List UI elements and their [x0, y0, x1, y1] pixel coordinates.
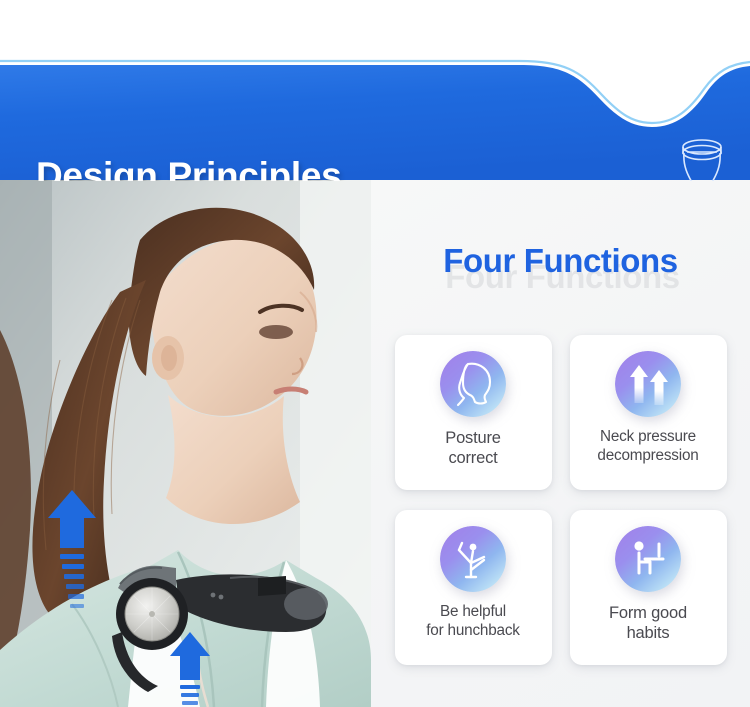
- neck-massager-device-icon: [673, 135, 731, 181]
- feature-card-label: Posture correct: [440, 428, 505, 468]
- feature-card-neck-pressure-decompression[interactable]: Neck pressure decompression: [570, 335, 727, 490]
- feature-card-be-helpful-for-hunchback[interactable]: Be helpful for hunchback: [395, 510, 552, 665]
- product-lifestyle-photo: Again: [0, 180, 371, 707]
- product-feature-page: Design Principles: [0, 0, 750, 707]
- features-card-grid: Posture correct: [371, 335, 750, 665]
- feature-card-label: Neck pressure decompression: [592, 428, 703, 465]
- feature-card-label: Be helpful for hunchback: [421, 603, 525, 640]
- double-up-arrow-icon: [615, 351, 681, 417]
- feature-card-label: Form good habits: [604, 603, 692, 643]
- page-title: Design Principles: [36, 155, 341, 181]
- yoga-dancer-pose-icon: [440, 526, 506, 592]
- features-heading: Four Functions: [443, 242, 678, 280]
- feature-card-form-good-habits[interactable]: Form good habits: [570, 510, 727, 665]
- seated-desk-posture-icon: [615, 526, 681, 592]
- header-banner: Design Principles: [0, 55, 750, 181]
- photo-illustration: Again: [0, 180, 371, 707]
- features-panel: Four Functions Four Functions: [371, 180, 750, 707]
- feature-card-posture-correct[interactable]: Posture correct: [395, 335, 552, 490]
- features-heading-block: Four Functions Four Functions: [371, 242, 750, 280]
- head-profile-icon: [440, 351, 506, 417]
